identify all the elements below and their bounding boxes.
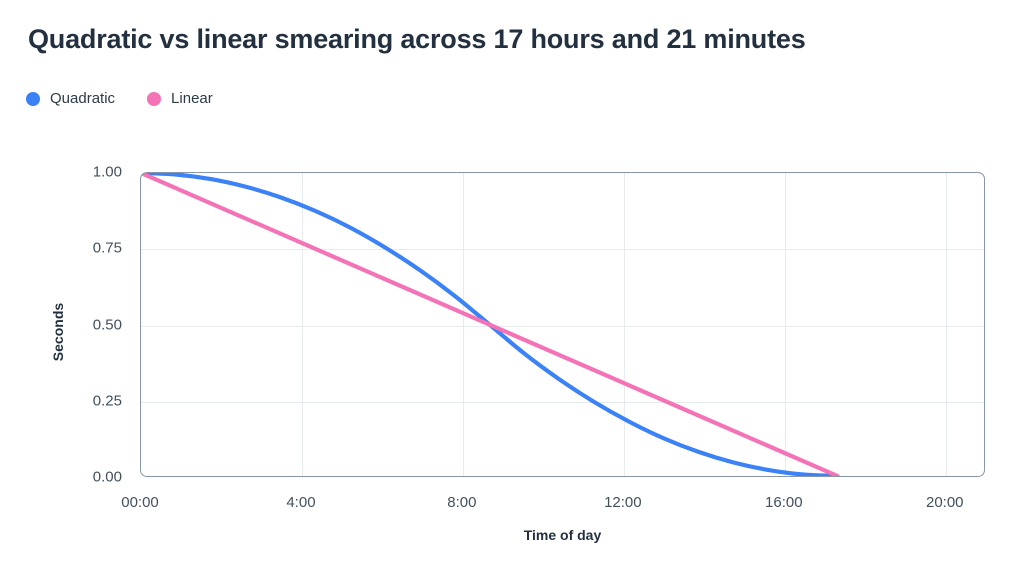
- legend-label-linear: Linear: [171, 90, 213, 107]
- chart-legend: Quadratic Linear: [26, 90, 213, 107]
- legend-item-linear[interactable]: Linear: [147, 90, 213, 107]
- y-tick-label: 0.00: [93, 469, 122, 486]
- x-tick-label: 8:00: [447, 494, 476, 511]
- series-line-linear: [141, 173, 837, 476]
- x-tick-label: 00:00: [121, 494, 159, 511]
- plot-frame: [140, 172, 985, 477]
- y-tick-label: 0.50: [93, 316, 122, 333]
- x-tick-label: 4:00: [286, 494, 315, 511]
- series-lines: [141, 173, 984, 476]
- x-tick-label: 16:00: [765, 494, 803, 511]
- chart-title: Quadratic vs linear smearing across 17 h…: [28, 24, 806, 55]
- y-axis-title: Seconds: [50, 272, 66, 392]
- legend-item-quadratic[interactable]: Quadratic: [26, 90, 115, 107]
- plot-area: [140, 172, 985, 477]
- y-tick-label: 0.25: [93, 392, 122, 409]
- x-axis-tick-labels: 00:004:008:0012:0016:0020:00: [140, 494, 985, 514]
- x-axis-title: Time of day: [140, 527, 985, 543]
- chart-container: Quadratic vs linear smearing across 17 h…: [0, 0, 1023, 576]
- x-tick-label: 12:00: [604, 494, 642, 511]
- x-tick-label: 20:00: [926, 494, 964, 511]
- y-tick-label: 1.00: [93, 164, 122, 181]
- legend-label-quadratic: Quadratic: [50, 90, 115, 107]
- legend-marker-quadratic: [26, 92, 40, 106]
- legend-marker-linear: [147, 92, 161, 106]
- y-axis-tick-labels: 1.000.750.500.250.00: [60, 172, 122, 477]
- y-tick-label: 0.75: [93, 240, 122, 257]
